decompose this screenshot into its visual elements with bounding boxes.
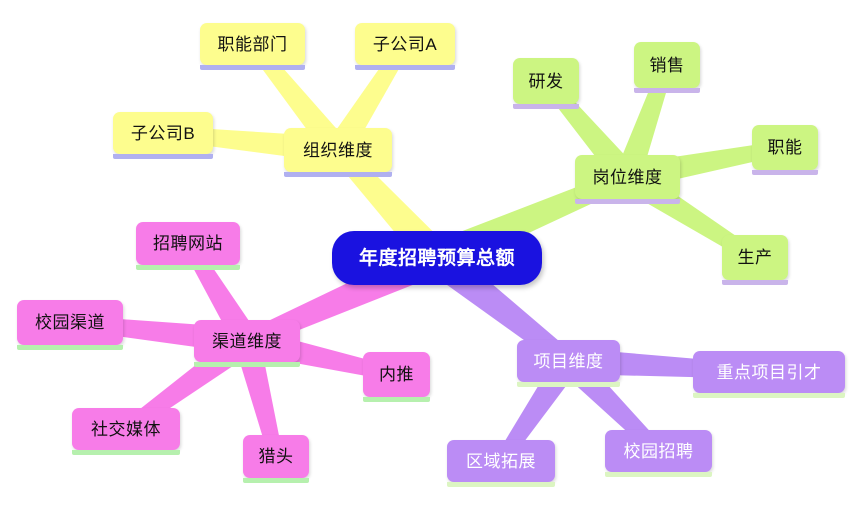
node-underline xyxy=(575,199,680,204)
leaf-node-org-func[interactable]: 职能部门 xyxy=(200,23,305,65)
node-underline xyxy=(243,478,309,483)
node-underline xyxy=(752,170,818,175)
branch-node-project[interactable]: 项目维度 xyxy=(517,340,620,382)
node-label: 区域拓展 xyxy=(466,453,536,470)
node-underline xyxy=(447,482,555,487)
node-label: 校园招聘 xyxy=(624,443,694,460)
branch-node-channel[interactable]: 渠道维度 xyxy=(194,320,300,362)
leaf-node-org-suba[interactable]: 子公司A xyxy=(355,23,455,65)
node-underline xyxy=(200,65,305,70)
node-underline xyxy=(194,362,300,367)
node-underline xyxy=(517,382,620,387)
node-label: 职能 xyxy=(768,139,803,156)
node-label: 年度招聘预算总额 xyxy=(359,249,515,268)
node-underline xyxy=(17,345,123,350)
node-underline xyxy=(355,65,455,70)
leaf-node-ch-hunt[interactable]: 猎头 xyxy=(243,435,309,478)
branch-node-position[interactable]: 岗位维度 xyxy=(575,155,680,199)
leaf-node-pos-rd[interactable]: 研发 xyxy=(513,58,579,104)
node-label: 组织维度 xyxy=(303,142,373,159)
node-label: 内推 xyxy=(379,366,414,383)
leaf-node-org-subb[interactable]: 子公司B xyxy=(113,112,213,154)
node-label: 猎头 xyxy=(259,448,294,465)
node-underline xyxy=(72,450,180,455)
leaf-node-pos-prod[interactable]: 生产 xyxy=(722,235,788,280)
leaf-node-ch-social[interactable]: 社交媒体 xyxy=(72,408,180,450)
node-label: 职能部门 xyxy=(218,36,288,53)
branch-node-org[interactable]: 组织维度 xyxy=(284,128,392,172)
node-label: 研发 xyxy=(529,73,564,90)
node-label: 生产 xyxy=(738,249,773,266)
leaf-node-pj-campus[interactable]: 校园招聘 xyxy=(605,430,712,472)
node-underline xyxy=(136,265,240,270)
node-label: 渠道维度 xyxy=(212,333,282,350)
leaf-node-pj-region[interactable]: 区域拓展 xyxy=(447,440,555,482)
node-underline xyxy=(513,104,579,109)
node-underline xyxy=(113,154,213,159)
node-underline xyxy=(605,472,712,477)
node-label: 校园渠道 xyxy=(35,314,105,331)
leaf-node-pos-sale[interactable]: 销售 xyxy=(634,42,700,88)
leaf-node-ch-campus[interactable]: 校园渠道 xyxy=(17,300,123,345)
node-underline xyxy=(363,397,430,402)
node-label: 社交媒体 xyxy=(91,421,161,438)
node-label: 岗位维度 xyxy=(593,169,663,186)
node-label: 子公司A xyxy=(373,36,437,53)
node-underline xyxy=(634,88,700,93)
node-label: 重点项目引才 xyxy=(717,364,822,381)
node-underline xyxy=(693,393,845,398)
leaf-node-ch-ref[interactable]: 内推 xyxy=(363,352,430,397)
node-underline xyxy=(722,280,788,285)
root-node[interactable]: 年度招聘预算总额 xyxy=(332,231,542,285)
node-label: 子公司B xyxy=(131,125,195,142)
leaf-node-ch-site[interactable]: 招聘网站 xyxy=(136,222,240,265)
leaf-node-pj-key[interactable]: 重点项目引才 xyxy=(693,351,845,393)
node-label: 项目维度 xyxy=(534,353,604,370)
leaf-node-pos-func[interactable]: 职能 xyxy=(752,125,818,170)
mind-map-canvas: 年度招聘预算总额组织维度职能部门子公司A子公司B岗位维度研发销售职能生产渠道维度… xyxy=(0,0,865,510)
node-label: 销售 xyxy=(650,57,685,74)
node-label: 招聘网站 xyxy=(153,235,223,252)
node-underline xyxy=(284,172,392,177)
